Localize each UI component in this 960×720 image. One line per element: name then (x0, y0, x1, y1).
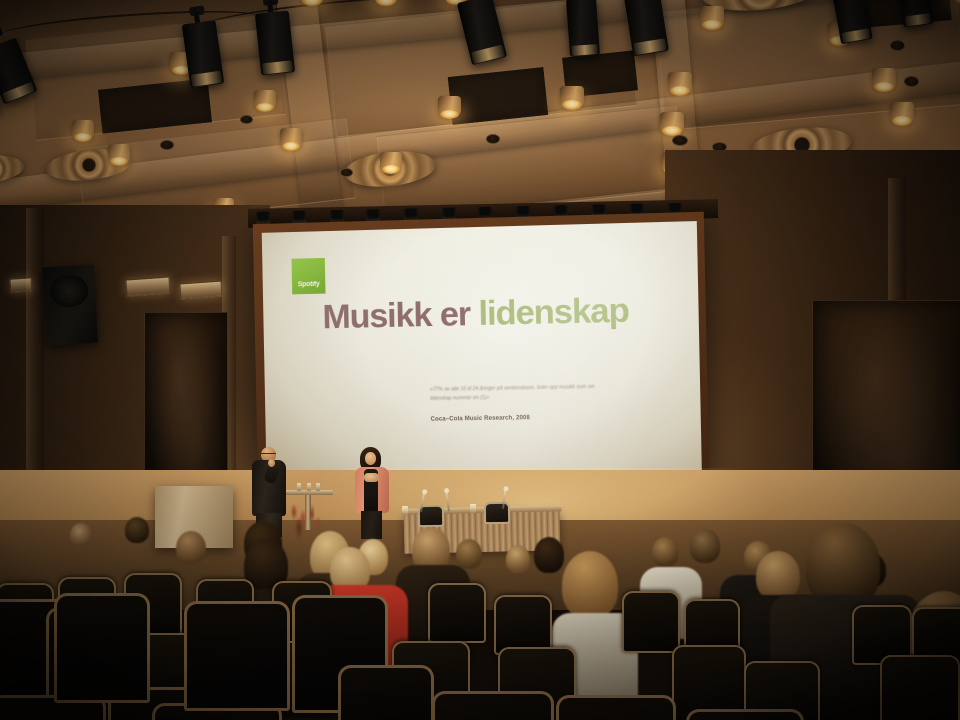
slide-title: Musikk er lidenskap (263, 290, 691, 338)
clerestory-window (125, 276, 170, 296)
slide-source: Coca–Cola Music Research, 2008 (431, 414, 530, 423)
audience-head (690, 529, 720, 563)
audience-head (176, 531, 206, 565)
chair-back (494, 595, 552, 655)
ceiling-downlight (380, 152, 402, 172)
ceiling-recess (672, 135, 688, 146)
projection-screen: Spotify Musikk er lidenskap «77% av alle… (262, 221, 702, 479)
ceiling-dark-tile (448, 67, 548, 125)
presenter-left-hand (268, 459, 275, 467)
stage-spotlight (566, 0, 600, 57)
spotify-logo: Spotify (292, 258, 326, 294)
audience (0, 495, 960, 720)
ceiling-downlight (108, 144, 130, 164)
chair-front (432, 691, 554, 720)
projection-screen-frame: Spotify Musikk er lidenskap «77% av alle… (253, 212, 709, 484)
chair-front (54, 593, 150, 703)
slide-quote: «77% av alle 16 til 24 åringer på verden… (430, 383, 607, 405)
ceiling-downlight (872, 68, 896, 90)
ceiling-downlight (374, 0, 398, 4)
chair-back (428, 583, 486, 643)
ceiling-downlight (660, 112, 684, 134)
presenter-right-face (365, 452, 376, 465)
loudspeaker (42, 265, 98, 346)
audience-head (652, 537, 678, 567)
audience-head (534, 537, 564, 573)
ceiling-downlight (438, 96, 461, 117)
glasses-icon (261, 453, 276, 457)
stage-spotlight (255, 10, 295, 75)
chair-back (622, 591, 680, 653)
spotify-logo-text: Spotify (298, 281, 320, 288)
ceiling-recess (340, 168, 353, 177)
ceiling-downlight (890, 102, 914, 124)
clerestory-window (179, 281, 222, 300)
clerestory-window (10, 277, 33, 293)
ceiling-downlight (560, 86, 584, 108)
chair-front (338, 665, 434, 720)
audience-head-bun (756, 551, 800, 601)
ceiling-downlight (700, 6, 724, 28)
presenter-right-hands (364, 473, 379, 482)
chair-front (556, 695, 676, 720)
ceiling-downlight (72, 120, 94, 140)
ceiling-recess (160, 140, 174, 150)
ceiling-recess (486, 134, 500, 144)
chair-front (184, 601, 290, 711)
audience-head (125, 517, 149, 543)
audience-head (506, 545, 530, 573)
ceiling-downlight (254, 90, 276, 110)
slide-title-part-2: lidenskap (478, 291, 629, 332)
presentation-slide: Spotify Musikk er lidenskap «77% av alle… (262, 221, 702, 479)
ceiling-downlight (668, 72, 692, 94)
chair-front (686, 709, 804, 720)
ceiling-recess (240, 115, 253, 124)
ceiling-downlight (280, 128, 302, 149)
audience-head (456, 539, 482, 569)
ceiling-downlight (300, 0, 324, 4)
audience-head-ponytail (562, 551, 618, 619)
auditorium-photo: Spotify Musikk er lidenskap «77% av alle… (0, 0, 960, 720)
chair-back (880, 655, 960, 720)
ceiling-recess (904, 76, 919, 87)
ceiling-recess (890, 40, 905, 51)
audience-head (70, 523, 92, 547)
slide-title-part-1: Musikk er (322, 295, 470, 336)
